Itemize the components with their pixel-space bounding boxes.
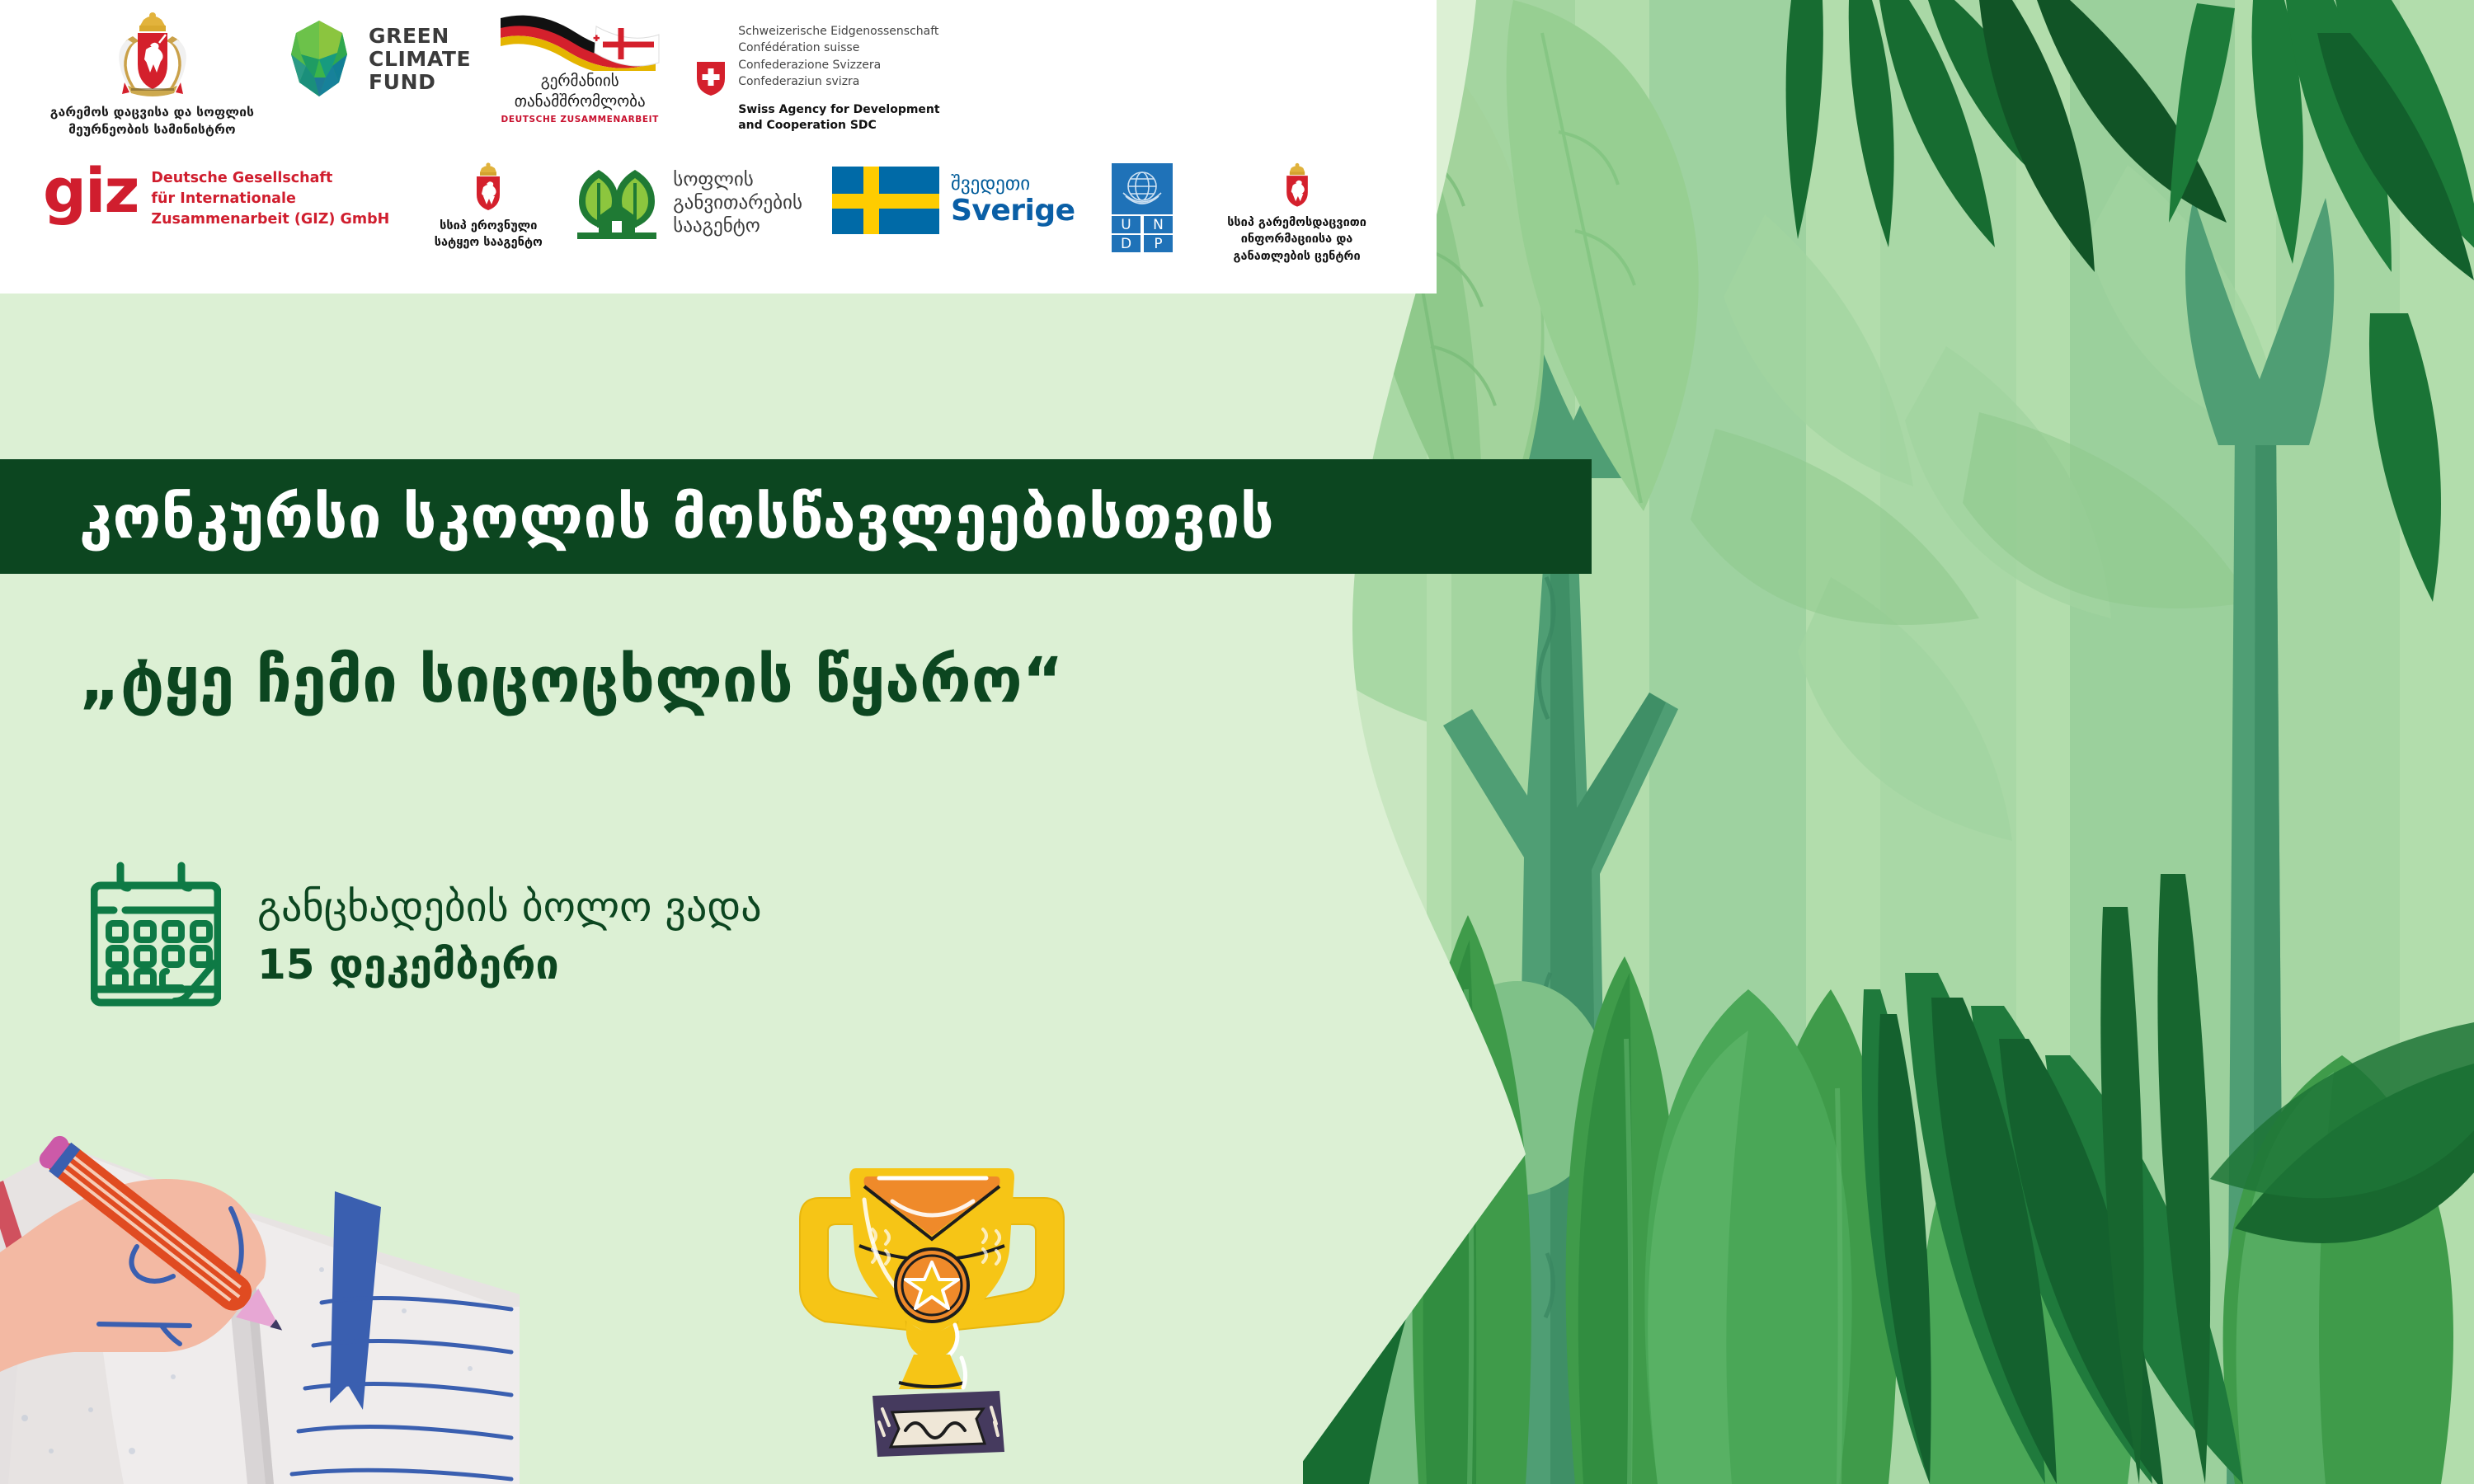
logo-giz: giz Deutsche Gesellschaft für Internatio…: [43, 168, 389, 230]
trophy-award-illustration: [767, 1150, 1097, 1484]
logo-wordmark: GREEN CLIMATE FUND: [369, 25, 471, 94]
logo-row-1: გარემოს დაცვისა და სოფლის მეურნეობის სამ…: [43, 7, 940, 139]
title-banner: კონკურსი სკოლის მოსწავლეებისთვის: [0, 459, 1592, 574]
georgian-shield-crown-icon: [1279, 162, 1315, 209]
sponsor-logo-header: გარემოს დაცვისა და სოფლის მეურნეობის სამ…: [0, 0, 1437, 294]
logo-undp: U N D P: [1112, 163, 1173, 252]
logo-wordmark: giz: [43, 168, 138, 216]
logo-swiss-agency-sdc: Schweizerische Eidgenossenschaft Confédé…: [695, 23, 939, 134]
georgian-coat-of-arms-icon: [103, 7, 202, 99]
logo-german-cooperation: გერმანიის თანამშრომლობა DEUTSCHE ZUSAMME…: [497, 10, 662, 124]
logo-national-forestry-agency: სსიპ ეროვნული სატყეო სააგენტო: [422, 162, 554, 251]
svg-text:U: U: [1121, 217, 1131, 233]
svg-text:D: D: [1121, 236, 1131, 252]
logo-caption: გერმანიის თანამშრომლობა: [515, 71, 646, 111]
logo-text-block: Deutsche Gesellschaft für Internationale…: [151, 168, 389, 230]
un-globe-laurel-icon: U N D P: [1112, 163, 1173, 252]
svg-text:P: P: [1154, 236, 1162, 252]
logo-caption: გარემოს დაცვისა და სოფლის მეურნეობის სამ…: [50, 104, 254, 139]
georgian-shield-crown-icon: [468, 162, 508, 213]
logo-rural-development-agency: სოფლის განვითარების სააგენტო: [574, 165, 802, 241]
faceted-globe-icon: [281, 18, 357, 101]
swedish-flag-icon: [832, 167, 939, 234]
header-curve-mask: [1352, 0, 1567, 297]
hand-writing-notebook-illustration: [0, 1022, 520, 1484]
logo-row-2: giz Deutsche Gesellschaft für Internatio…: [43, 162, 1400, 265]
trees-house-icon: [574, 165, 660, 241]
logo-ministry-of-environment-georgia: გარემოს დაცვისა და სოფლის მეურნეობის სამ…: [43, 7, 261, 139]
page-subtitle: „ტყე ჩემი სიცოცხლის წყარო“: [79, 643, 1064, 716]
deadline-block: განცხადების ბოლო ვადა 15 დეკემბერი: [91, 859, 762, 1012]
logo-subtitle: DEUTSCHE ZUSAMMENARBEIT: [501, 115, 659, 124]
logo-sverige: შვედეთი Sverige: [832, 167, 1075, 234]
svg-text:N: N: [1153, 217, 1164, 233]
deadline-label: განცხადების ბოლო ვადა: [257, 884, 762, 930]
logo-text-block: Schweizerische Eidgenossenschaft Confédé…: [738, 23, 939, 134]
logo-text-block: შვედეთი Sverige: [951, 174, 1075, 226]
logo-text-block: სოფლის განვითარების სააგენტო: [673, 168, 802, 237]
logo-caption: სსიპ გარემოსდაცვითი ინფორმაციისა და განა…: [1227, 214, 1366, 265]
deadline-text: განცხადების ბოლო ვადა 15 დეკემბერი: [257, 884, 762, 988]
swiss-shield-cross-icon: [695, 60, 727, 96]
logo-green-climate-fund: GREEN CLIMATE FUND: [281, 18, 471, 101]
deadline-date: 15 დეკემბერი: [257, 942, 762, 988]
logo-caption: სსიპ ეროვნული სატყეო სააგენტო: [435, 218, 543, 251]
page-title: კონკურსი სკოლის მოსწავლეებისთვის: [79, 482, 1274, 552]
poster-root: გარემოს დაცვისა და სოფლის მეურნეობის სამ…: [0, 0, 2474, 1484]
calendar-icon: [91, 859, 221, 1012]
german-georgian-flag-ribbon-icon: [497, 10, 662, 71]
